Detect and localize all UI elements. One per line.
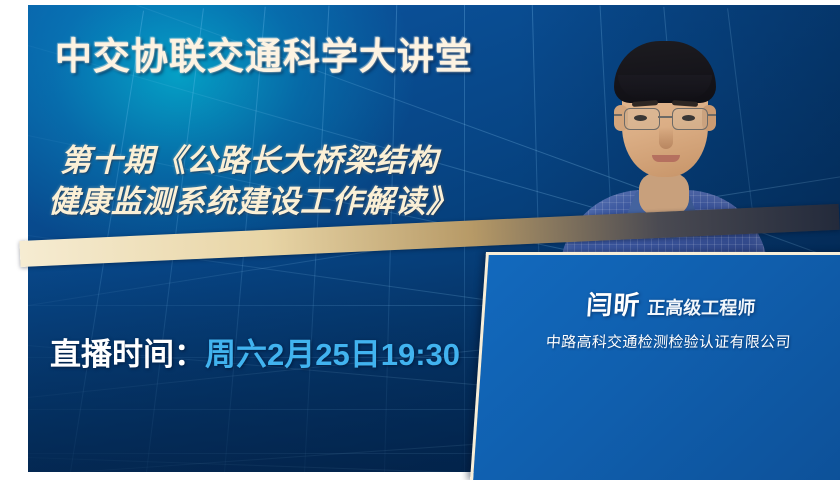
speaker-name-row: 闫昕正高级工程师	[500, 285, 840, 322]
portrait-neck	[639, 173, 689, 215]
portrait-hair	[614, 41, 716, 103]
page-title: 中交协联交通科学大讲堂	[55, 26, 473, 80]
live-time: 直播时间：周六2月25日19:30	[50, 329, 460, 374]
live-time-value: 周六2月25日19:30	[205, 337, 460, 372]
episode-subtitle-line-1: 第十期《公路长大桥梁结构	[60, 143, 438, 178]
portrait-mouth	[652, 155, 680, 162]
speaker-name: 闫昕	[585, 290, 641, 320]
episode-subtitle-line-2: 健康监测系统建设工作解读》	[48, 181, 580, 222]
episode-subtitle: 第十期《公路长大桥梁结构 健康监测系统建设工作解读》	[60, 140, 580, 222]
live-time-label: 直播时间：	[50, 337, 205, 372]
speaker-organization: 中路高科交通检测检验认证有限公司	[498, 331, 839, 352]
webinar-poster: 中交协联交通科学大讲堂 第十期《公路长大桥梁结构 健康监测系统建设工作解读》 闫…	[0, 0, 840, 480]
portrait-nose	[659, 127, 673, 149]
speaker-title: 正高级工程师	[647, 298, 756, 318]
speaker-info-text: 闫昕正高级工程师 中路高科交通检测检验认证有限公司	[498, 285, 840, 352]
